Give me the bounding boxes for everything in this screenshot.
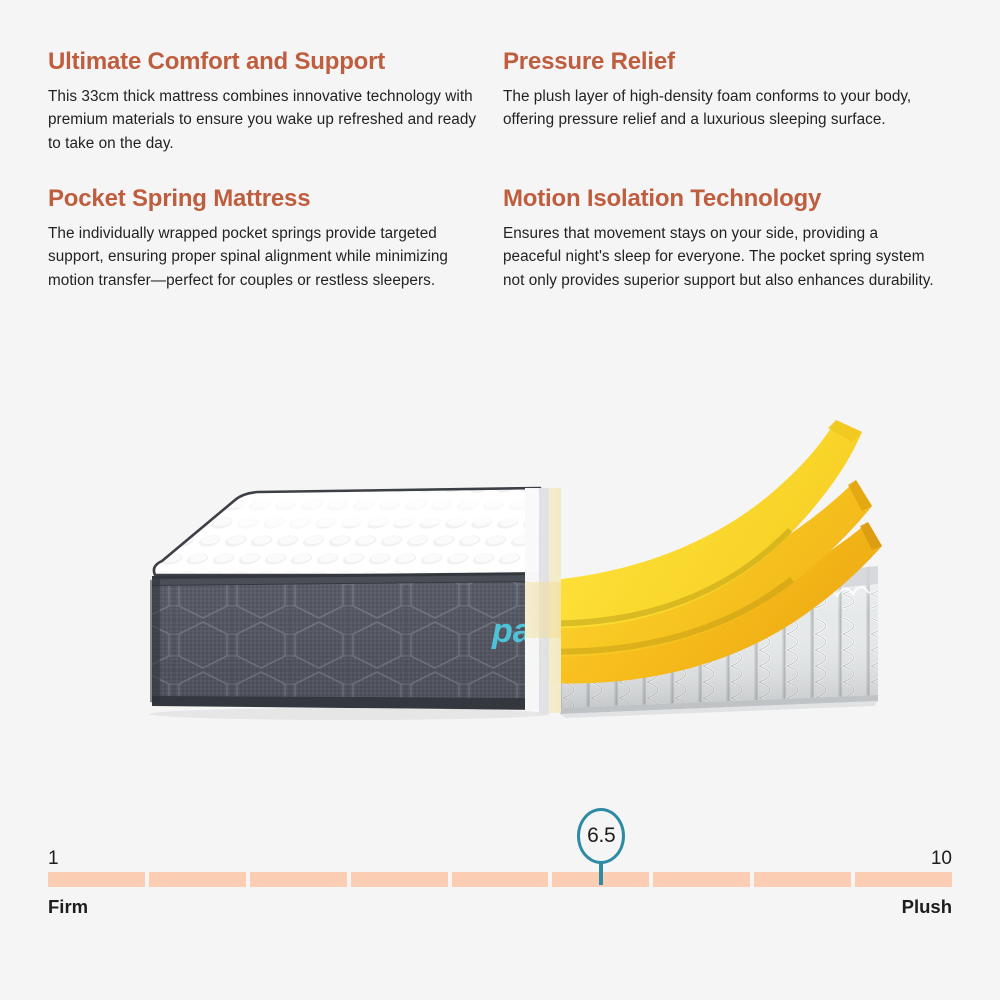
scale-segment[interactable]: [855, 872, 952, 887]
feature-card-ultimate-comfort: Ultimate Comfort and Support This 33cm t…: [48, 48, 503, 155]
firmness-scale: 1 10 6.5 Firm Plush: [48, 812, 952, 922]
feature-card-pressure-relief: Pressure Relief The plush layer of high-…: [503, 48, 952, 155]
feature-grid: Ultimate Comfort and Support This 33cm t…: [48, 48, 952, 292]
scale-segment[interactable]: [452, 872, 549, 887]
scale-min-number: 1: [48, 848, 59, 870]
feature-title: Ultimate Comfort and Support: [48, 48, 485, 76]
scale-segment[interactable]: [351, 872, 448, 887]
firmness-marker-stem: [599, 863, 603, 885]
feature-title: Pressure Relief: [503, 48, 934, 76]
feature-card-pocket-spring: Pocket Spring Mattress The individually …: [48, 185, 503, 292]
scale-label-plush: Plush: [902, 896, 952, 918]
firmness-marker[interactable]: 6.5: [574, 808, 628, 885]
scale-endpoint-numbers: 1 10: [48, 848, 952, 870]
firmness-scale-track[interactable]: [48, 872, 952, 887]
firmness-marker-value: 6.5: [577, 808, 625, 864]
feature-body: This 33cm thick mattress combines innova…: [48, 85, 485, 156]
mattress-body: pa: [150, 488, 540, 710]
scale-endpoint-labels: Firm Plush: [48, 896, 952, 918]
feature-body: The plush layer of high-density foam con…: [503, 85, 934, 132]
scale-segment[interactable]: [250, 872, 347, 887]
scale-segment[interactable]: [653, 872, 750, 887]
feature-body: The individually wrapped pocket springs …: [48, 222, 485, 293]
scale-segment[interactable]: [754, 872, 851, 887]
feature-body: Ensures that movement stays on your side…: [503, 222, 934, 293]
scale-max-number: 10: [931, 848, 952, 870]
scale-label-firm: Firm: [48, 896, 88, 918]
feature-title: Pocket Spring Mattress: [48, 185, 485, 213]
scale-segment[interactable]: [48, 872, 145, 887]
cutaway-transition: [525, 488, 561, 713]
feature-title: Motion Isolation Technology: [503, 185, 934, 213]
mattress-cutaway-illustration: pa: [0, 370, 1000, 760]
product-image: pa: [0, 370, 1000, 760]
scale-segment[interactable]: [149, 872, 246, 887]
feature-card-motion-isolation: Motion Isolation Technology Ensures that…: [503, 185, 952, 292]
